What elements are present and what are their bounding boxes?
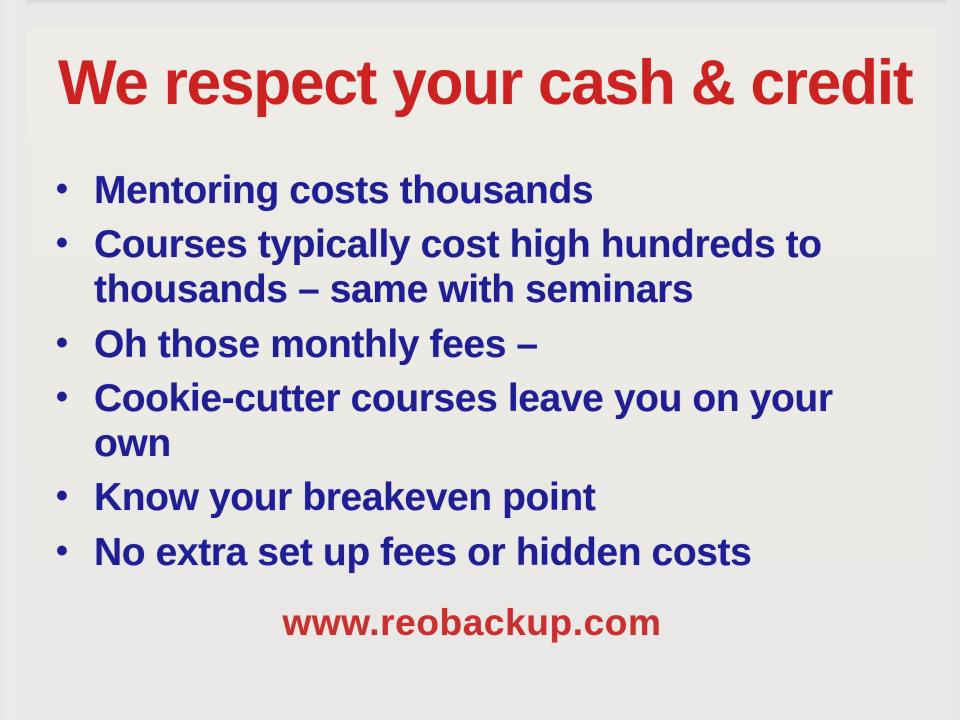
list-item: • Cookie-cutter courses leave you on you…: [50, 376, 930, 466]
list-item: • Oh those monthly fees –: [50, 322, 930, 367]
list-item: • Mentoring costs thousands: [50, 168, 930, 213]
list-item: • Know your breakeven point: [50, 475, 930, 520]
bullet-text: Oh those monthly fees –: [94, 322, 884, 367]
website-url: www.reobackup.com: [0, 602, 960, 644]
bullet-point-icon: •: [50, 168, 94, 212]
slide-content: We respect your cash & credit • Mentorin…: [0, 0, 960, 720]
bullet-text: No extra set up fees or hidden costs: [94, 530, 884, 575]
bullet-point-icon: •: [50, 322, 94, 366]
bullet-point-icon: •: [50, 376, 94, 420]
bullet-point-icon: •: [50, 530, 94, 574]
presentation-slide: We respect your cash & credit • Mentorin…: [0, 0, 960, 720]
list-item: • No extra set up fees or hidden costs: [50, 530, 930, 575]
bullet-point-icon: •: [50, 222, 94, 266]
bullet-text: Cookie-cutter courses leave you on your …: [94, 376, 884, 466]
bullet-text: Know your breakeven point: [94, 475, 884, 520]
slide-title: We respect your cash & credit: [58, 52, 915, 115]
bullet-text: Courses typically cost high hundreds to …: [94, 222, 884, 312]
bullet-list: • Mentoring costs thousands • Courses ty…: [50, 168, 930, 584]
list-item: • Courses typically cost high hundreds t…: [50, 222, 930, 312]
bullet-point-icon: •: [50, 475, 94, 519]
bullet-text: Mentoring costs thousands: [94, 168, 884, 213]
